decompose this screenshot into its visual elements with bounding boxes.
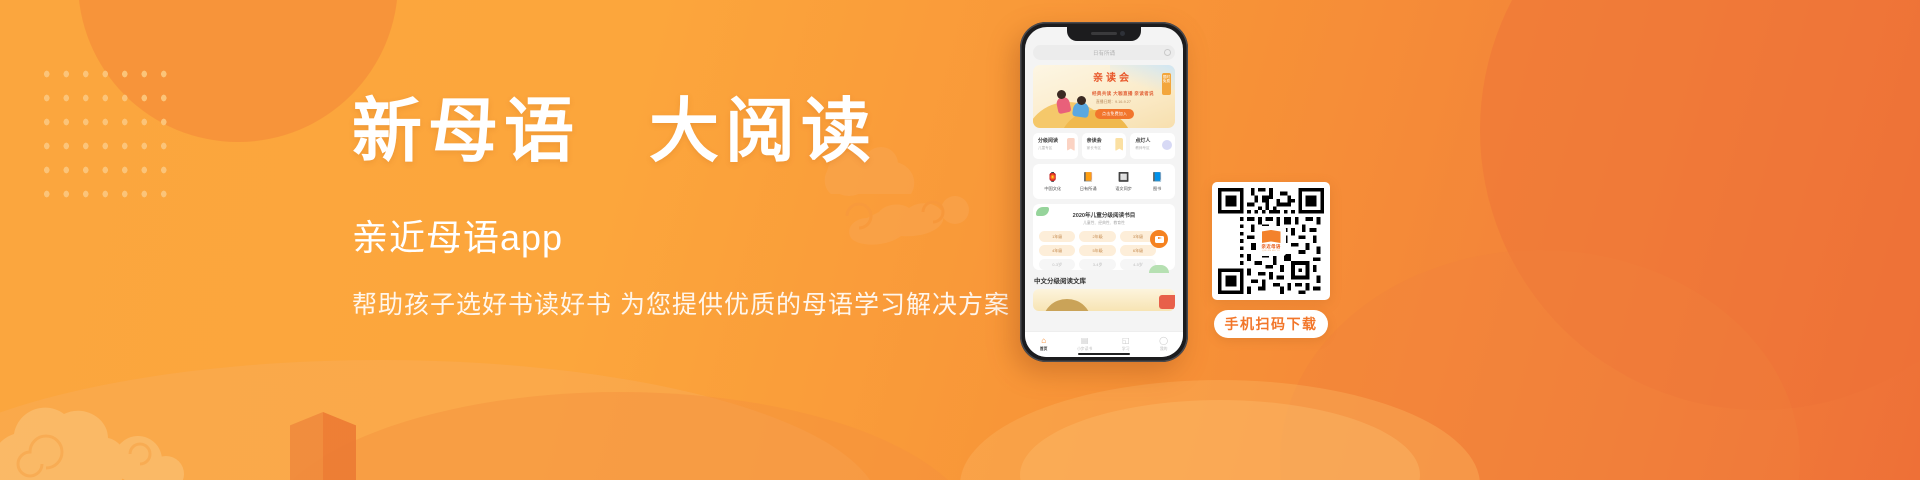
hero-subtitle: 经典共读 大咖直播 亲读者说 — [1092, 91, 1154, 97]
circle-shape-top-left — [78, 0, 398, 142]
app-quick-links: 🏮 中国文化 📙 日有所诵 🔲 语文同步 📘 图书 — [1033, 164, 1175, 199]
camera-icon — [1120, 31, 1125, 36]
grade-chip[interactable]: 4年级 — [1039, 245, 1075, 256]
logo-pinyin: QIN JIN MU YU — [1262, 250, 1280, 252]
open-book-icon — [1262, 230, 1281, 243]
banner-description: 帮助孩子选好书读好书 为您提供优质的母语学习解决方案 — [352, 289, 1032, 322]
grade-chip[interactable]: 1年级 — [1039, 231, 1075, 242]
app-name-subtitle: 亲近母语app — [352, 216, 1032, 259]
quick-link-label: 中国文化 — [1044, 186, 1061, 192]
quick-link-label: 语文同步 — [1115, 186, 1132, 192]
library-section-title: 中文分级阅读文库 — [1033, 275, 1175, 285]
person-circle-icon: ◯ — [1159, 337, 1168, 345]
quick-link-daily-recite[interactable]: 📙 日有所诵 — [1080, 171, 1097, 192]
tab-label: 小步读书 — [1077, 347, 1092, 352]
dot-grid-pattern — [37, 62, 172, 212]
grade-chip[interactable]: 2年级 — [1079, 231, 1115, 242]
qr-code-image: 亲近母语 QIN JIN MU YU — [1218, 188, 1324, 294]
quick-link-books[interactable]: 📘 图书 — [1151, 171, 1164, 192]
quick-link-textbook-sync[interactable]: 🔲 语文同步 — [1115, 171, 1132, 192]
clipboard-icon: ◱ — [1122, 337, 1130, 345]
grade-chip[interactable]: 6年级 — [1120, 245, 1156, 256]
tab-study[interactable]: ◱ 学习 — [1122, 337, 1130, 352]
search-placeholder-text: 日有所诵 — [1093, 49, 1115, 57]
home-icon: ⌂ — [1040, 337, 1048, 345]
hero-child-head-2 — [1077, 96, 1086, 105]
home-indicator — [1078, 353, 1130, 355]
hero-title-char-3: 会 — [1119, 74, 1129, 84]
promo-banner: 新母语 大阅读 亲近母语app 帮助孩子选好书读好书 为您提供优质的母语学习解决… — [0, 0, 1920, 480]
scan-download-button[interactable]: 手机扫码下载 — [1214, 310, 1328, 338]
qr-code-card: 亲近母语 QIN JIN MU YU — [1212, 182, 1330, 300]
banner-copy: 新母语 大阅读 亲近母语app 帮助孩子选好书读好书 为您提供优质的母语学习解决… — [352, 96, 1032, 321]
leaf-icon-secondary — [1149, 265, 1169, 273]
grade-section-title: 2020年儿童分级阅读书目 — [1039, 211, 1169, 219]
person-icon — [1162, 140, 1172, 150]
hero-title-char-1: 亲 — [1093, 74, 1103, 84]
hero-title-char-2: 读 — [1106, 74, 1116, 84]
quick-link-label: 日有所诵 — [1080, 186, 1097, 192]
category-card-teacher[interactable]: 点灯人 教师专区 — [1130, 133, 1175, 159]
app-grade-section: 2020年儿童分级阅读书目 儿童性、经典性、教育性 1年级 2年级 3年级 4年… — [1033, 204, 1175, 270]
phone-mockup: 日有所诵 亲 读 会 经典共读 — [1020, 22, 1188, 362]
more-icon[interactable] — [1164, 49, 1171, 56]
wave-shape-bottom-second — [260, 392, 980, 480]
list-icon: ▤ — [1077, 337, 1092, 345]
phone-notch — [1067, 27, 1141, 41]
hero-title: 亲 读 会 — [1093, 74, 1129, 84]
hero-ribbon-badge: 限时免费 — [1162, 73, 1171, 95]
headline-part-1: 新母语 — [352, 94, 580, 171]
library-card[interactable] — [1033, 289, 1175, 311]
app-category-cards: 分级阅读 儿童专区 亲读会 家长专区 点灯人 教师专区 — [1033, 133, 1175, 159]
square-icon: 🔲 — [1117, 171, 1130, 184]
grade-section-subtitle: 儿童性、经典性、教育性 — [1039, 221, 1169, 226]
quick-link-chinese-culture[interactable]: 🏮 中国文化 — [1044, 171, 1061, 192]
tab-reading[interactable]: ▤ 小步读书 — [1077, 337, 1092, 352]
glow-ellipse — [960, 380, 1480, 480]
glow-ellipse-inner — [1020, 400, 1420, 480]
app-hero-banner[interactable]: 亲 读 会 经典共读 大咖直播 亲读者说 直播日期：9.16-9.27 点击免费… — [1033, 65, 1175, 128]
lantern-icon: 🏮 — [1046, 171, 1059, 184]
grade-chip[interactable]: 5年级 — [1079, 245, 1115, 256]
wave-shape-bottom — [0, 360, 880, 480]
hero-child-head-1 — [1057, 90, 1066, 99]
library-book-decoration — [1159, 295, 1175, 309]
hero-date: 直播日期：9.16-9.27 — [1096, 100, 1131, 105]
cloud-swirl-icon — [0, 376, 198, 480]
tab-home[interactable]: ⌂ 首页 — [1040, 337, 1048, 352]
category-card-parent-club[interactable]: 亲读会 家长专区 — [1082, 133, 1127, 159]
tab-profile[interactable]: ◯ 我的 — [1159, 337, 1168, 352]
tab-label: 学习 — [1122, 347, 1130, 352]
circle-shape-right-lower — [1280, 250, 1800, 480]
book-icon: 📘 — [1151, 171, 1164, 184]
circle-shape-top-right — [1480, 0, 1920, 410]
page-title: 新母语 大阅读 — [352, 96, 1032, 170]
play-video-button[interactable] — [1150, 230, 1168, 248]
cube-shape — [290, 412, 356, 480]
age-chip[interactable]: 0-3岁 — [1039, 259, 1075, 270]
headline-part-2: 大阅读 — [649, 94, 877, 171]
hero-child-illustration-1 — [1055, 96, 1071, 114]
qr-center-logo: 亲近母语 QIN JIN MU YU — [1256, 226, 1286, 256]
library-hill-decoration — [1043, 299, 1091, 311]
speaker-icon — [1091, 32, 1117, 35]
phone-screen: 日有所诵 亲 读 会 经典共读 — [1025, 27, 1183, 357]
quick-link-label: 图书 — [1151, 186, 1164, 192]
play-icon — [1155, 236, 1164, 243]
tab-label: 首页 — [1040, 347, 1048, 352]
book-orange-icon: 📙 — [1082, 171, 1095, 184]
tab-label: 我的 — [1159, 347, 1168, 352]
app-search-input[interactable]: 日有所诵 — [1033, 45, 1175, 60]
category-card-graded-reading[interactable]: 分级阅读 儿童专区 — [1033, 133, 1078, 159]
hero-cta-button[interactable]: 点击免费加入 — [1095, 109, 1134, 119]
age-chip[interactable]: 3-4岁 — [1079, 259, 1115, 270]
